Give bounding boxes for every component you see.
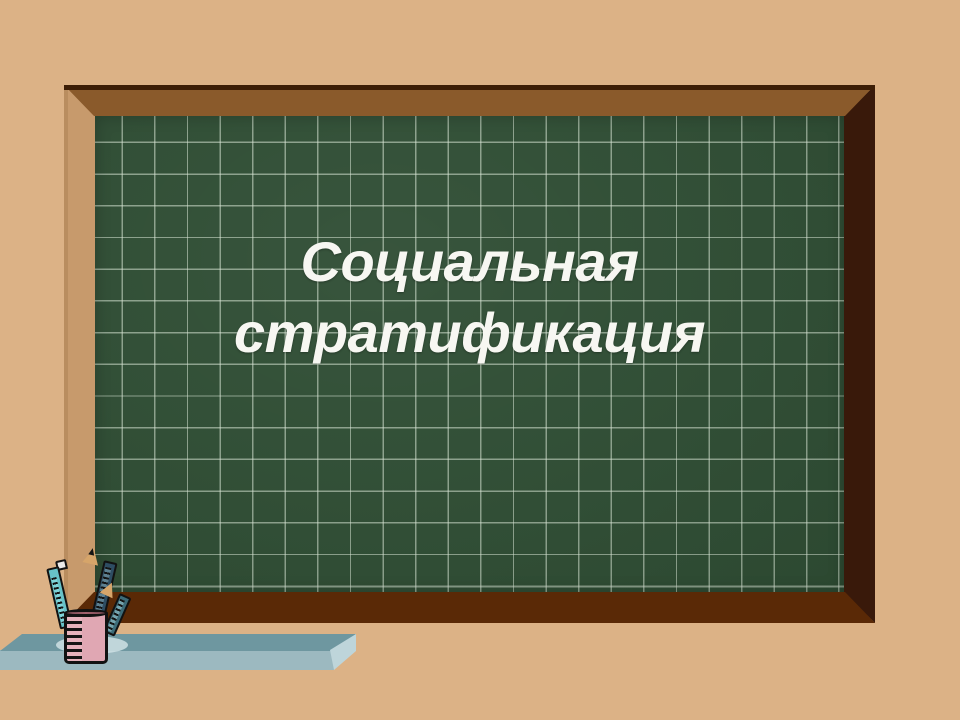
pencil-cup-rim: [64, 609, 108, 617]
short-pencil-ridge: [107, 599, 125, 632]
board-frame-bottom: [64, 592, 875, 623]
blackboard: Социальная стратификация: [64, 85, 875, 623]
pencil-cup-hatching: [67, 614, 82, 661]
board-frame-top-highlight: [64, 85, 875, 90]
board-frame-left-edge: [64, 85, 68, 623]
board-surface: Социальная стратификация: [95, 116, 844, 592]
page-title: Социальная стратификация: [95, 226, 844, 368]
slide-canvas: Социальная стратификация: [0, 0, 960, 720]
board-frame-right: [844, 85, 875, 623]
board-frame-left: [64, 85, 95, 623]
pencil-cup-body: [64, 611, 108, 664]
pencil-cup[interactable]: [50, 548, 140, 666]
